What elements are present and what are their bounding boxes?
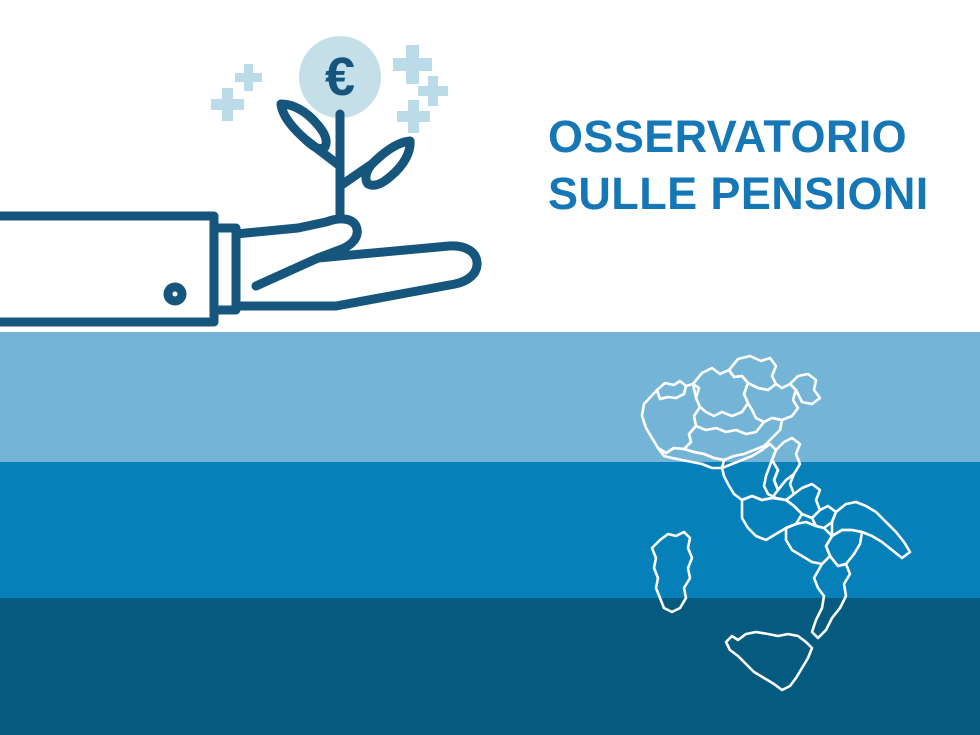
region-basilicata (826, 530, 862, 566)
palm (236, 219, 477, 306)
region-sardegna (652, 532, 692, 612)
title-line-1: OSSERVATORIO (548, 108, 948, 165)
cuff-button-icon (168, 287, 182, 301)
page-title: OSSERVATORIO SULLE PENSIONI (548, 108, 948, 222)
hand-plant-illustration: € (0, 0, 520, 340)
region-veneto (744, 383, 798, 422)
sparkle-icon (211, 88, 244, 121)
sparkle-icon (397, 100, 430, 133)
italy-map (630, 350, 950, 700)
region-calabria (812, 556, 850, 638)
leaf-right (366, 141, 410, 185)
region-umbria (764, 460, 794, 500)
plant-icon (281, 104, 410, 216)
hand-icon (0, 216, 477, 322)
euro-coin-icon: € (299, 36, 381, 118)
sparkle-icon (393, 45, 432, 84)
sparkle-icon (235, 64, 262, 91)
svg-text:€: € (325, 47, 355, 107)
region-campania (786, 522, 832, 564)
thumb (256, 258, 318, 286)
sparkle-icon (418, 76, 448, 106)
region-sicilia (726, 632, 812, 690)
region-lazio (742, 496, 802, 540)
title-line-2: SULLE PENSIONI (548, 165, 948, 222)
sleeve (0, 216, 214, 322)
region-emilia-romagna (684, 418, 782, 460)
poster-root: € (0, 0, 980, 735)
